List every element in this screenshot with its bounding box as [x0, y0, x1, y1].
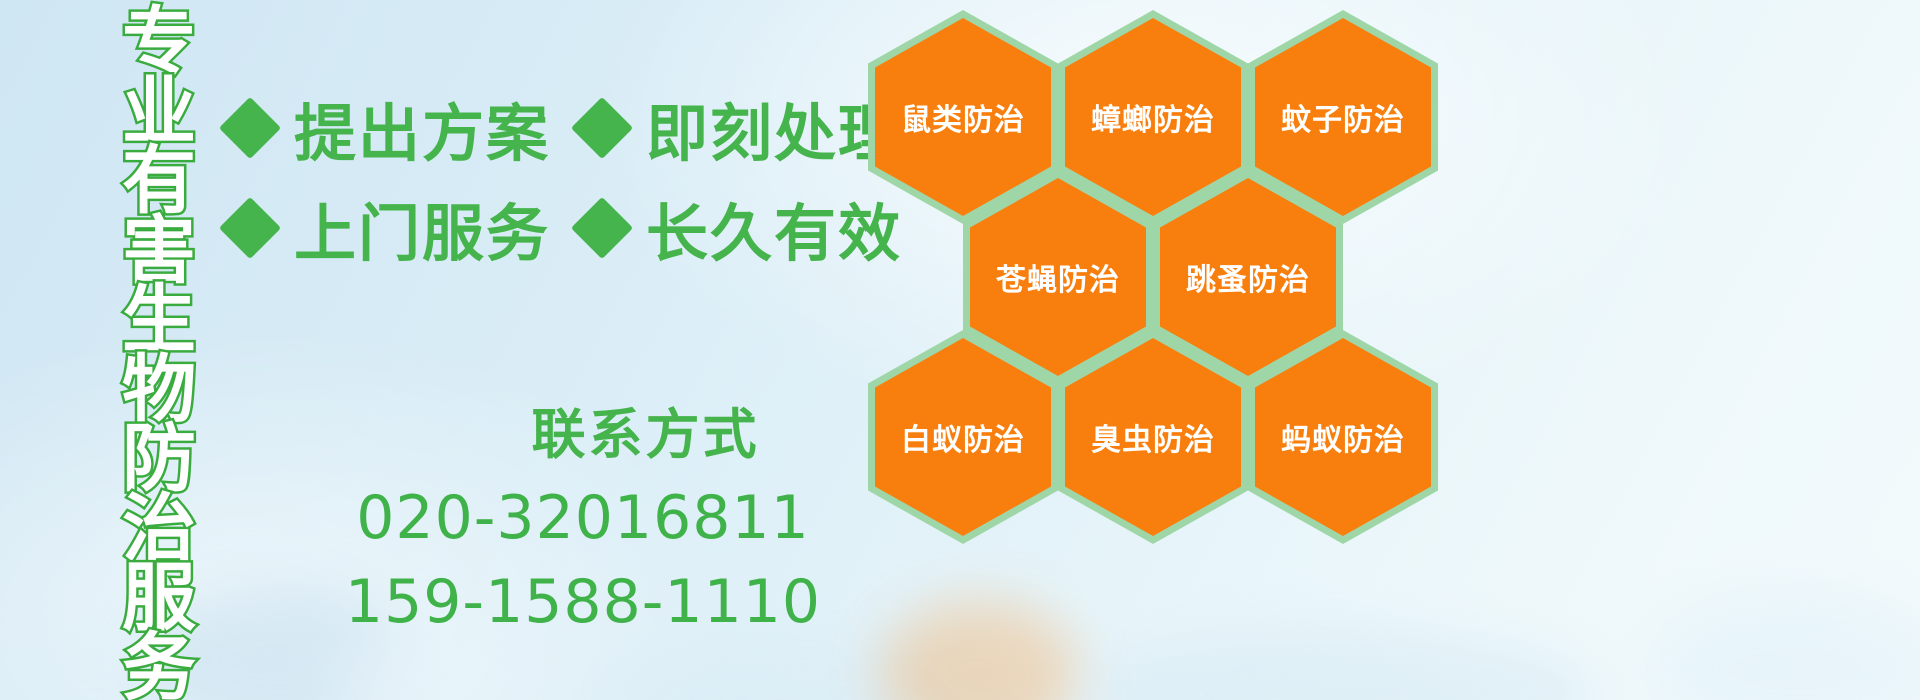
hex-cell-label: 蟑螂防治	[1091, 95, 1215, 139]
hex-cell-label: 鼠类防治	[901, 95, 1025, 139]
vertical-headline-char: 害	[122, 217, 196, 287]
background-blur-blob	[1080, 630, 1600, 700]
hex-cell-label: 蚂蚁防治	[1281, 415, 1405, 459]
hex-cell-label: 苍蝇防治	[996, 255, 1120, 299]
vertical-headline-char: 专	[122, 8, 196, 78]
feature-item-propose-plan: 提出方案	[228, 83, 550, 173]
feature-label: 提出方案	[294, 83, 550, 173]
feature-row: 提出方案 即刻处理	[228, 78, 868, 178]
vertical-headline-char: 有	[122, 147, 196, 217]
vertical-headline-char: 业	[122, 78, 196, 148]
feature-row: 上门服务 长久有效	[228, 178, 868, 278]
feature-item-long-lasting: 长久有效	[580, 183, 902, 273]
diamond-icon	[571, 197, 633, 259]
background-blur-blob	[1650, 590, 1920, 700]
vertical-headline-char: 服	[122, 564, 196, 634]
hex-cell-label: 白蚁防治	[901, 415, 1025, 459]
vertical-headline: 专 业 有 害 生 物 防 治 服 务	[105, 8, 213, 552]
contact-title: 联系方式	[423, 390, 868, 469]
hex-cell-label: 臭虫防治	[1091, 415, 1215, 459]
diamond-icon	[219, 97, 281, 159]
feature-item-immediate-handling: 即刻处理	[580, 83, 902, 173]
background-blur-blob	[880, 600, 1080, 700]
vertical-headline-char: 防	[122, 425, 196, 495]
diamond-icon	[571, 97, 633, 159]
service-honeycomb: 鼠类防治 蟑螂防治 蚊子防治 苍蝇防治 跳蚤防治 白蚁防治 臭虫防治 蚂蚁	[862, 0, 1442, 560]
contact-phone-mobile[interactable]: 159-1588-1110	[298, 567, 868, 637]
contact-phone-landline[interactable]: 020-32016811	[298, 483, 868, 553]
vertical-headline-char: 物	[122, 356, 196, 426]
feature-item-onsite-service: 上门服务	[228, 183, 550, 273]
hex-cell-label: 跳蚤防治	[1186, 255, 1310, 299]
vertical-headline-char: 务	[122, 634, 196, 700]
feature-list: 提出方案 即刻处理 上门服务 长久有效	[228, 78, 868, 278]
contact-block: 联系方式 020-32016811 159-1588-1110	[228, 390, 868, 637]
hex-cell-label: 蚊子防治	[1281, 95, 1405, 139]
vertical-headline-char: 生	[122, 286, 196, 356]
pest-control-banner: 专 业 有 害 生 物 防 治 服 务 提出方案 即刻处理 上门服务	[0, 0, 1920, 700]
feature-label: 上门服务	[294, 183, 550, 273]
vertical-headline-char: 治	[122, 495, 196, 565]
diamond-icon	[219, 197, 281, 259]
